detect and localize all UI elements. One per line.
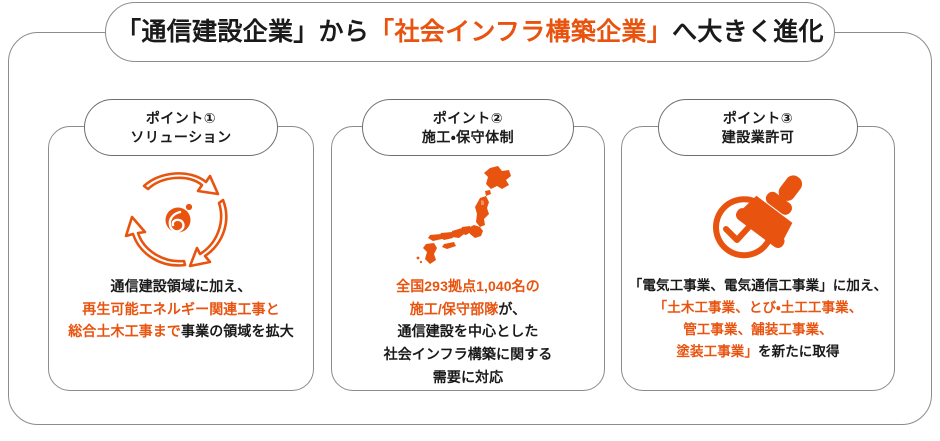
body-segment: 全国293拠点1,040名の: [396, 278, 540, 294]
point-badge-1: ポイント① ソリューション: [84, 99, 278, 156]
body-segment: 施工/保守部隊: [410, 301, 499, 317]
infographic-root: 「通信建設企業」から「社会インフラ構築企業」へ大きく進化 ポイント① ソリューシ…: [0, 0, 940, 441]
point-badge-2: ポイント② 施工・保守体制: [362, 99, 574, 156]
title-plain-suffix: へ大きく進化: [672, 18, 824, 46]
body-segment: 「電気工事業、電気通信工事業」に加え、: [629, 278, 887, 293]
point-badge-2-line2: 施工・保守体制: [422, 128, 514, 146]
title-banner: 「通信建設企業」から「社会インフラ構築企業」へ大きく進化: [105, 2, 835, 62]
point-badge-3: ポイント③ 建設業許可: [658, 99, 858, 156]
body-segment: 通信建設領域に加え、: [111, 278, 252, 294]
body-segment: 事業の領域を拡大: [181, 323, 294, 339]
body-segment: 総合土木工事まで: [68, 323, 181, 339]
icon-area-2: [332, 161, 604, 273]
recycle-cycle-arrows-icon: [122, 165, 240, 269]
body-line: 全国293拠点1,040名の: [338, 275, 598, 298]
point-badge-1-line2: ソリューション: [130, 128, 231, 146]
page-title: 「通信建設企業」から「社会インフラ構築企業」へ大きく進化: [116, 20, 824, 45]
card-body-2: 全国293拠点1,040名の 施工/保守部隊が、 通信建設を中心とした 社会イン…: [332, 275, 604, 388]
title-highlight: 「社会インフラ構築企業」: [369, 18, 672, 46]
body-line: 管工事業、舗装工事業、: [628, 319, 888, 341]
point-badge-1-line1: ポイント①: [146, 109, 216, 127]
body-line: 総合土木工事まで事業の領域を拡大: [55, 320, 307, 343]
card-body-3: 「電気工事業、電気通信工事業」に加え、 「土木工事業、とび・土工工事業、 管工事…: [622, 275, 894, 362]
icon-area-1: [49, 161, 313, 273]
point-badge-2-line1: ポイント②: [433, 109, 503, 127]
card-body-1: 通信建設領域に加え、 再生可能エネルギー関連工事と 総合土木工事まで事業の領域を…: [49, 275, 313, 343]
body-segment: 塗装工事業」: [676, 344, 758, 359]
center-logo-mark: [166, 204, 193, 233]
body-line: 再生可能エネルギー関連工事と: [55, 298, 307, 321]
body-line: 「土木工事業、とび・土工工事業、: [628, 297, 888, 319]
body-line: 「電気工事業、電気通信工事業」に加え、: [628, 275, 888, 297]
icon-area-3: [622, 161, 894, 273]
body-segment: 再生可能エネルギー関連工事と: [82, 301, 279, 317]
body-segment: を新たに取得: [758, 344, 840, 359]
body-line: 塗装工事業」を新たに取得: [628, 341, 888, 363]
body-segment: 通信建設を中心とした: [398, 323, 539, 339]
body-segment: 社会インフラ構築に関する: [384, 346, 553, 362]
title-plain-prefix: 「通信建設企業」から: [116, 18, 369, 46]
point-badge-3-line2: 建設業許可: [722, 128, 795, 146]
body-segment: が、: [498, 301, 526, 317]
japan-map-icon: [414, 165, 522, 269]
body-segment: 需要に対応: [433, 369, 504, 385]
body-line: 社会インフラ構築に関する: [338, 343, 598, 366]
cards-row: ポイント① ソリューション: [0, 0, 940, 441]
body-line: 通信建設領域に加え、: [55, 275, 307, 298]
point-card-1: ポイント① ソリューション: [48, 126, 314, 391]
body-line: 通信建設を中心とした: [338, 320, 598, 343]
body-line: 需要に対応: [338, 366, 598, 389]
body-segment: 「土木工事業、とび・土工工事業、: [654, 300, 863, 315]
body-segment: 管工事業、舗装工事業、: [683, 322, 833, 337]
approval-stamp-check-icon: [696, 165, 820, 269]
body-line: 施工/保守部隊が、: [338, 298, 598, 321]
point-badge-3-line1: ポイント③: [723, 109, 793, 127]
point-card-2: ポイント② 施工・保守体制: [331, 126, 605, 391]
point-card-3: ポイント③ 建設業許可: [621, 126, 895, 391]
